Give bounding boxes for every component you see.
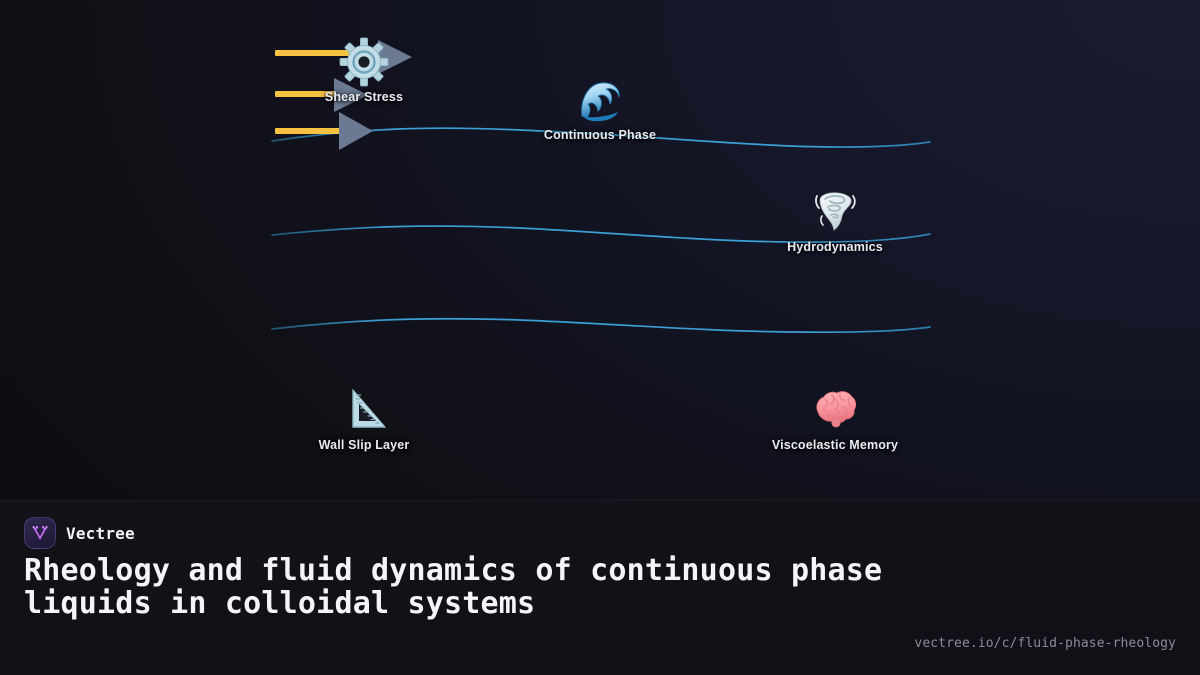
gear-icon <box>338 36 390 88</box>
brand[interactable]: Vectree <box>24 517 135 549</box>
footer-bar: Vectree Rheology and fluid dynamics of c… <box>0 500 1200 675</box>
node-label-shear-stress: Shear Stress <box>274 90 454 104</box>
node-wall-slip-layer[interactable]: Wall Slip Layer <box>274 384 454 452</box>
tornado-icon <box>809 186 861 238</box>
screenshot-canvas: Shear Stress Continuous Phase <box>0 0 1200 675</box>
brand-name: Vectree <box>66 524 135 543</box>
triangle-ruler-icon <box>338 384 390 436</box>
page-title: Rheology and fluid dynamics of continuou… <box>24 555 954 620</box>
node-shear-stress[interactable]: Shear Stress <box>274 36 454 104</box>
node-label-viscoelastic-memory: Viscoelastic Memory <box>745 438 925 452</box>
shear-arrow-3 <box>275 112 373 150</box>
source-url: vectree.io/c/fluid-phase-rheology <box>914 636 1176 651</box>
wave-icon <box>574 74 626 126</box>
node-label-continuous-phase: Continuous Phase <box>510 128 690 142</box>
node-label-wall-slip-layer: Wall Slip Layer <box>274 438 454 452</box>
node-label-hydrodynamics: Hydrodynamics <box>745 240 925 254</box>
node-viscoelastic-memory[interactable]: Viscoelastic Memory <box>745 384 925 452</box>
vectree-logo-icon <box>24 517 56 549</box>
brain-icon <box>809 384 861 436</box>
flow-line-3 <box>272 319 930 332</box>
node-continuous-phase[interactable]: Continuous Phase <box>510 74 690 142</box>
node-hydrodynamics[interactable]: Hydrodynamics <box>745 186 925 254</box>
diagram-stage: Shear Stress Continuous Phase <box>0 0 1200 500</box>
